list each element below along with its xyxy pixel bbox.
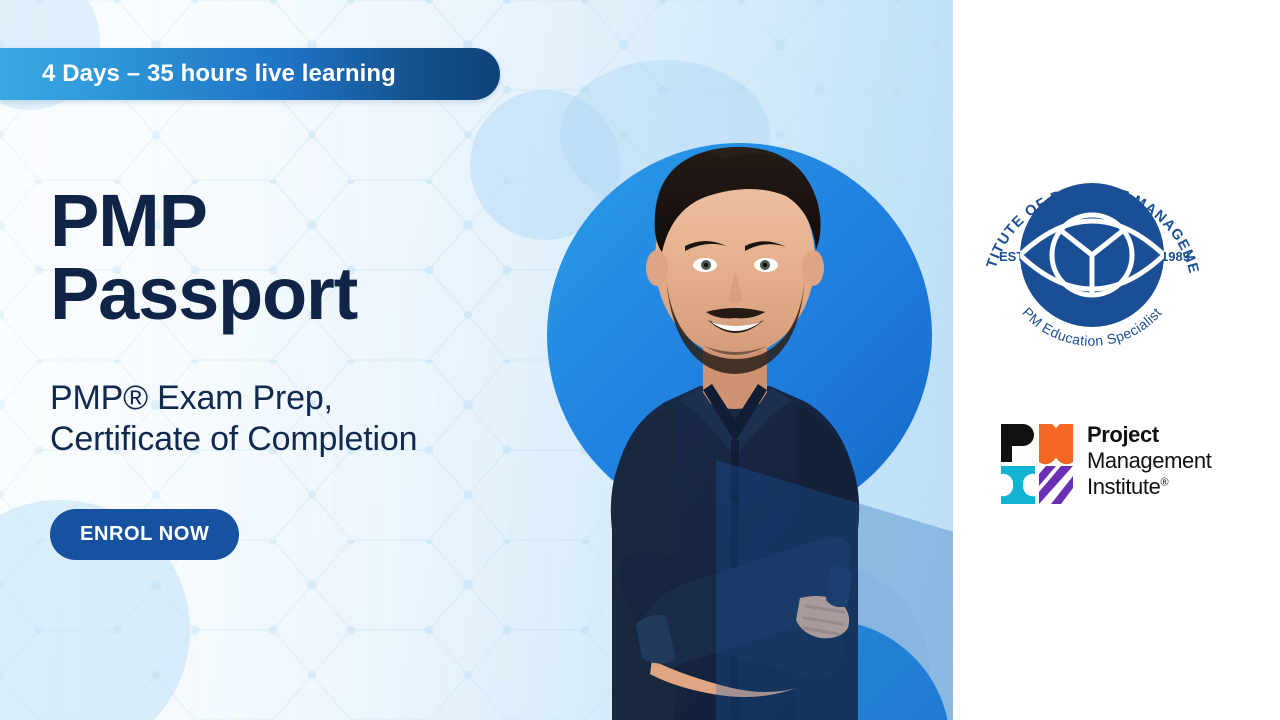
page-subtitle: PMP® Exam Prep, Certificate of Completio… (50, 378, 520, 461)
ipm-year-label: 1989 (1161, 249, 1190, 264)
hero-left-panel: 4 Days – 35 hours live learning PMP Pass… (0, 0, 953, 720)
page-subtitle-line-1: PMP® Exam Prep, (50, 378, 520, 419)
pmi-wordmark-line-1: Project (1087, 422, 1237, 448)
institute-of-project-management-logo: INSTITUTE OF PROJECT MANAGEMENT PM Educa… (977, 143, 1207, 348)
pmi-registered-mark: ® (1160, 477, 1168, 489)
pmi-wordmark-line-3: Institute® (1087, 474, 1237, 500)
pmi-wordmark-institute: Institute (1087, 474, 1160, 499)
enrol-now-button-label: ENROL NOW (80, 523, 209, 546)
page-title-line-1: PMP (50, 185, 520, 258)
eye-with-y-icon (1020, 183, 1164, 327)
duration-badge: 4 Days – 35 hours live learning (0, 48, 500, 100)
page-title: PMP Passport (50, 185, 520, 330)
pmi-wordmark: Project Management Institute® (1087, 422, 1237, 500)
logos-right-panel: INSTITUTE OF PROJECT MANAGEMENT PM Educa… (953, 0, 1280, 720)
instructor-photo (500, 100, 953, 720)
duration-badge-label: 4 Days – 35 hours live learning (0, 60, 396, 88)
pmi-wordmark-line-2: Management (1087, 448, 1237, 474)
page-title-line-2: Passport (50, 258, 520, 331)
page-subtitle-line-2: Certificate of Completion (50, 419, 520, 460)
project-management-institute-logo: Project Management Institute® (1001, 420, 1206, 520)
enrol-now-button[interactable]: ENROL NOW (50, 509, 239, 560)
promo-banner: 4 Days – 35 hours live learning PMP Pass… (0, 0, 1280, 720)
pmi-grid-icon (1001, 424, 1073, 504)
